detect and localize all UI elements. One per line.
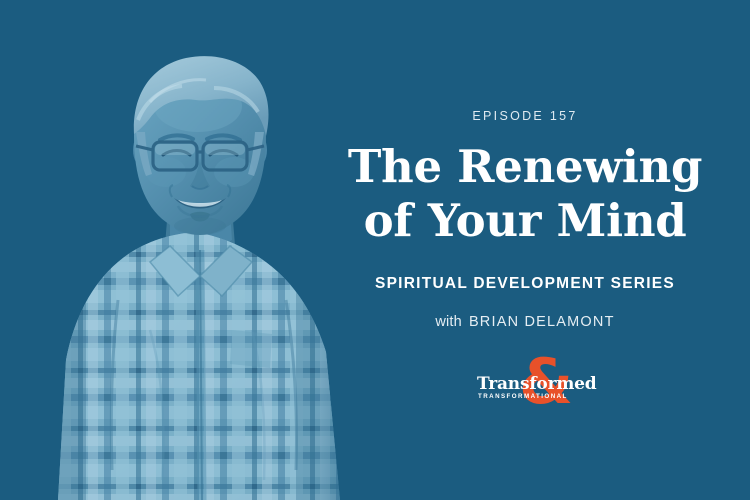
host-name-label: BRIAN DELAMONT	[469, 315, 615, 330]
cover-text-stack: EPISODE 157 The Renewing of Your Mind SP…	[300, 0, 750, 500]
host-credit-line: with BRIAN DELAMONT	[435, 315, 614, 330]
episode-number-label: EPISODE 157	[472, 110, 577, 123]
page-title: The Renewing of Your Mind	[348, 140, 702, 250]
logo-wordmark: Transformed	[477, 376, 596, 393]
transformed-transformational-logo: & Transformed TRANSFORMATIONAL	[473, 355, 577, 411]
series-name-label: SPIRITUAL DEVELOPMENT SERIES	[375, 276, 675, 292]
logo-subtitle: TRANSFORMATIONAL	[478, 394, 568, 400]
podcast-episode-cover: EPISODE 157 The Renewing of Your Mind SP…	[0, 0, 750, 500]
host-prefix-label: with	[435, 315, 462, 330]
